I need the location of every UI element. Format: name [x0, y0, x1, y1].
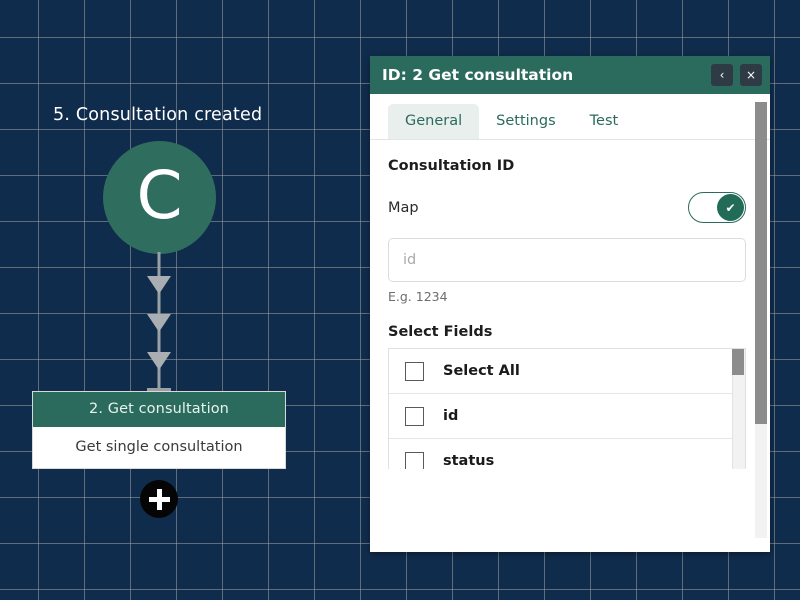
trigger-node-label: 5. Consultation created [53, 105, 262, 125]
consultation-id-hint: E.g. 1234 [388, 289, 746, 304]
field-label: id [443, 408, 458, 424]
panel-header: ID: 2 Get consultation ‹ × [370, 56, 770, 94]
action-node-header: 2. Get consultation [33, 392, 285, 427]
general-tab-content: Consultation ID Map ✔ E.g. 1234 Select F… [370, 140, 770, 469]
fields-list-scrollbar[interactable] [732, 349, 745, 469]
field-label: status [443, 453, 494, 469]
trigger-node-glyph: C [136, 163, 182, 229]
list-item[interactable]: Select All [389, 349, 745, 394]
action-node[interactable]: 2. Get consultation Get single consultat… [32, 391, 286, 469]
tab-test[interactable]: Test [573, 104, 636, 139]
fields-list-scrollbar-thumb[interactable] [732, 349, 744, 375]
action-node-body: Get single consultation [33, 427, 285, 468]
tab-general[interactable]: General [388, 104, 479, 139]
panel-title: ID: 2 Get consultation [382, 66, 704, 84]
toggle-check-icon: ✔ [717, 194, 744, 221]
map-toggle-switch[interactable]: ✔ [688, 192, 746, 223]
back-button[interactable]: ‹ [711, 64, 733, 86]
field-label: Select All [443, 363, 520, 379]
checkbox-select-all[interactable] [405, 362, 424, 381]
select-fields-list[interactable]: Select All id status [388, 348, 746, 469]
panel-body: General Settings Test Consultation ID Ma… [370, 94, 770, 552]
trigger-node-circle[interactable]: C [103, 141, 216, 254]
map-label: Map [388, 200, 419, 216]
list-item[interactable]: status [389, 439, 745, 469]
panel-scrollbar-thumb[interactable] [755, 102, 767, 424]
map-toggle-row: Map ✔ [388, 192, 746, 223]
list-item[interactable]: id [389, 394, 745, 439]
panel-tabs: General Settings Test [370, 94, 770, 140]
close-button[interactable]: × [740, 64, 762, 86]
connector-arrows [130, 252, 188, 392]
checkbox-id[interactable] [405, 407, 424, 426]
node-settings-panel[interactable]: ID: 2 Get consultation ‹ × General Setti… [370, 56, 770, 552]
checkbox-status[interactable] [405, 452, 424, 470]
consultation-id-input[interactable] [388, 238, 746, 282]
tab-settings[interactable]: Settings [479, 104, 572, 139]
plus-icon-vertical [157, 489, 162, 510]
section-title-consultation-id: Consultation ID [388, 158, 746, 174]
select-fields-title: Select Fields [388, 324, 746, 340]
add-node-button[interactable] [140, 480, 178, 518]
panel-scrollbar[interactable] [755, 102, 767, 538]
